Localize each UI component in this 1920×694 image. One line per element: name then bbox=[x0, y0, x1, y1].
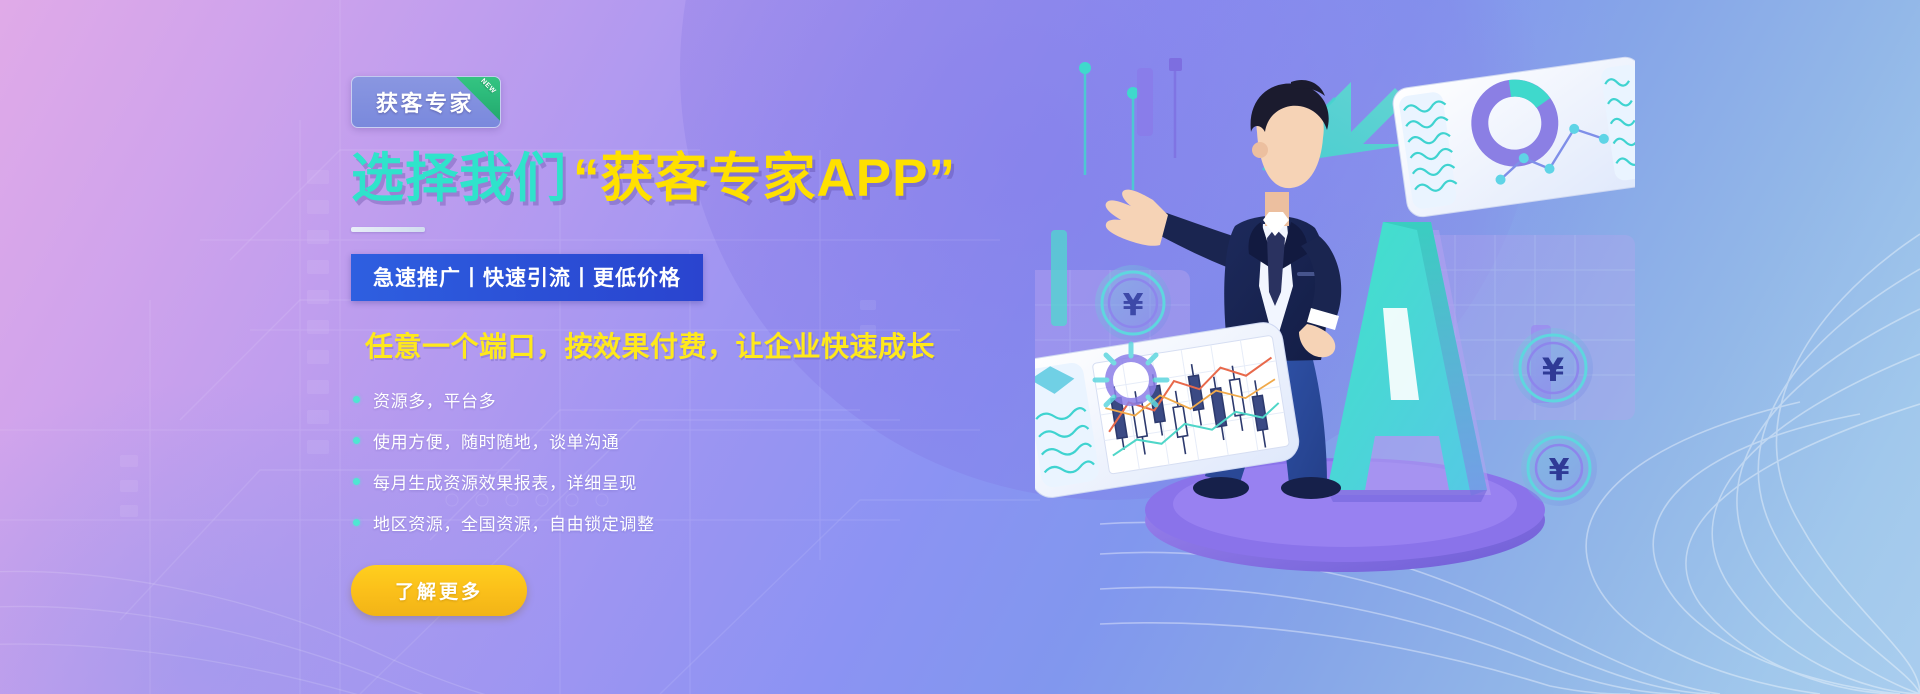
promo-banner: 获客专家 NEW 选择我们“获客专家APP” 急速推广丨快速引流丨更低价格 任意… bbox=[0, 0, 1920, 694]
banner-content: 获客专家 NEW 选择我们“获客专家APP” 急速推广丨快速引流丨更低价格 任意… bbox=[351, 76, 991, 616]
hero-illustration: ¥ ¥ ¥ bbox=[1035, 40, 1635, 580]
svg-text:¥: ¥ bbox=[1549, 453, 1570, 488]
feature-list: 资源多，平台多 使用方便，随时随地，谈单沟通 每月生成资源效果报表，详细呈现 地… bbox=[351, 387, 991, 535]
list-item-label: 地区资源，全国资源，自由锁定调整 bbox=[373, 510, 655, 535]
bullet-dot-icon bbox=[353, 396, 360, 403]
svg-text:¥: ¥ bbox=[1542, 351, 1564, 389]
headline: 选择我们“获客专家APP” bbox=[351, 150, 991, 207]
feature-strip-label: 急速推广丨快速引流丨更低价格 bbox=[373, 267, 681, 290]
yen-coin-right-bottom: ¥ bbox=[1521, 430, 1597, 506]
feature-strip: 急速推广丨快速引流丨更低价格 bbox=[351, 254, 703, 301]
list-item: 资源多，平台多 bbox=[351, 387, 991, 412]
svg-text:¥: ¥ bbox=[1123, 288, 1144, 323]
bullet-dot-icon bbox=[353, 437, 360, 444]
list-item: 每月生成资源效果报表，详细呈现 bbox=[351, 469, 991, 494]
list-item: 使用方便，随时随地，谈单沟通 bbox=[351, 428, 991, 453]
headline-primary: 选择我们 bbox=[351, 149, 567, 208]
list-item-label: 每月生成资源效果报表，详细呈现 bbox=[373, 469, 637, 494]
bullet-dot-icon bbox=[353, 478, 360, 485]
bullet-dot-icon bbox=[353, 519, 360, 526]
headline-divider bbox=[351, 227, 425, 232]
tagline: 任意一个端口，按效果付费，让企业快速成长 bbox=[365, 325, 991, 365]
yen-coin-left: ¥ bbox=[1095, 265, 1171, 341]
headline-accent: “获客专家APP” bbox=[573, 149, 956, 208]
donut-chart-card bbox=[1391, 55, 1635, 219]
list-item-label: 使用方便，随时随地，谈单沟通 bbox=[373, 428, 619, 453]
product-badge: 获客专家 NEW bbox=[351, 76, 501, 128]
list-item-label: 资源多，平台多 bbox=[373, 387, 496, 412]
yen-coin-right-top: ¥ bbox=[1513, 328, 1593, 408]
list-item: 地区资源，全国资源，自由锁定调整 bbox=[351, 510, 991, 535]
learn-more-button[interactable]: 了解更多 bbox=[351, 565, 527, 616]
product-badge-label: 获客专家 bbox=[376, 91, 474, 116]
